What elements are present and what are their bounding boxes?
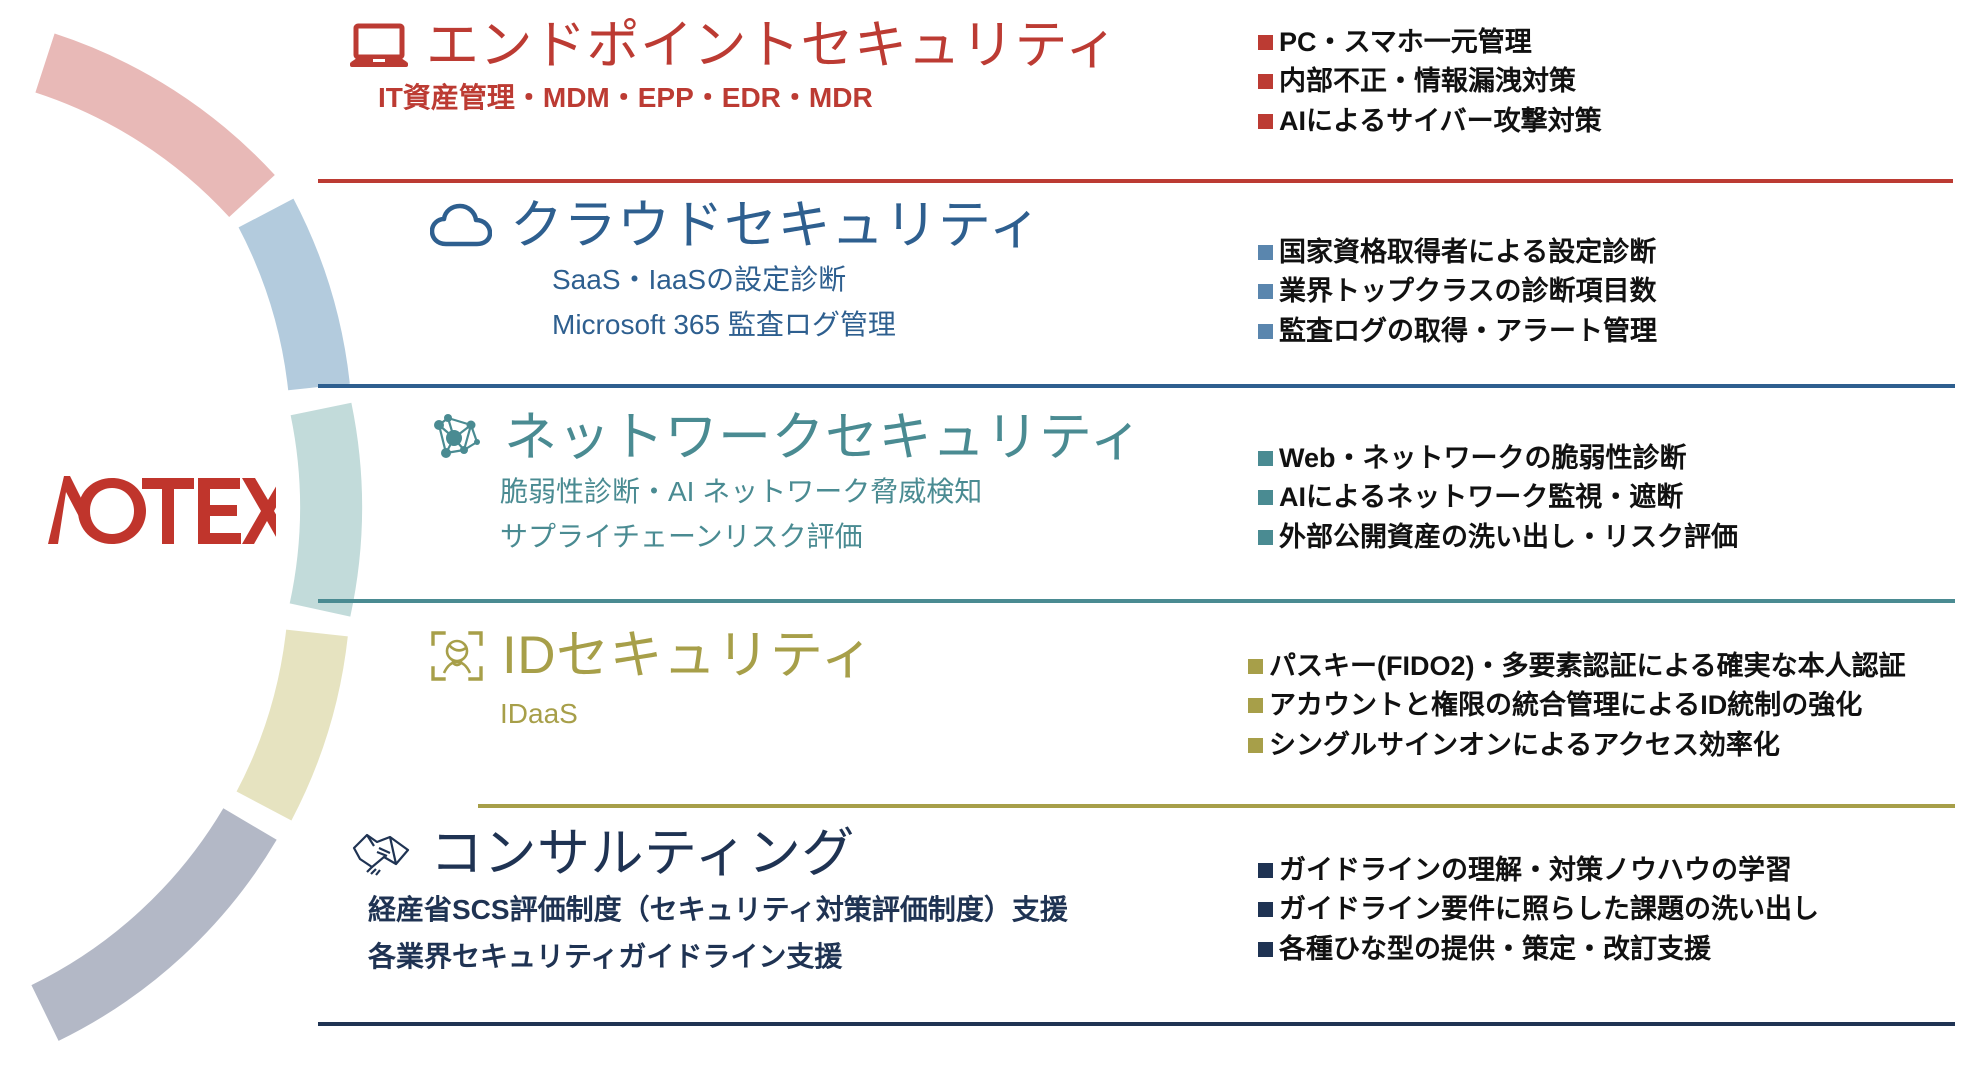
section-endpoint-security: エンドポイントセキュリティ IT資産管理・MDM・EPP・EDR・MDR PC・… [318,18,1958,158]
list-item: 外部公開資産の洗い出し・リスク評価 [1258,519,1738,556]
bullet-square-icon [1258,863,1273,878]
bullet-square-icon [1248,698,1263,713]
cloud-bullets: 国家資格取得者による設定診断 業界トップクラスの診断項目数 監査ログの取得・アラ… [1258,234,1657,350]
list-item: AIによるサイバー攻撃対策 [1258,103,1602,140]
consulting-title: コンサルティング [430,826,855,882]
bullet-text: 監査ログの取得・アラート管理 [1279,313,1657,350]
arc-segment-cloud [266,213,319,387]
consulting-bullets: ガイドラインの理解・対策ノウハウの学習 ガイドライン要件に照らした課題の洗い出し… [1258,852,1819,968]
laptop-icon [350,23,408,69]
bullet-text: Web・ネットワークの脆弱性診断 [1279,440,1687,477]
bullet-square-icon [1258,530,1273,545]
list-item: 監査ログの取得・アラート管理 [1258,313,1657,350]
section-consulting: コンサルティング 経産省SCS評価制度（セキュリティ対策評価制度）支援 各業界セ… [318,826,1958,1006]
divider-consulting [318,1022,1955,1026]
cloud-subtitle-line1: SaaS・IaaSの設定診断 [552,262,846,299]
bullet-square-icon [1258,245,1273,260]
consulting-title-block: コンサルティング 経産省SCS評価制度（セキュリティ対策評価制度）支援 各業界セ… [350,826,1068,976]
bullet-text: 国家資格取得者による設定診断 [1279,234,1656,271]
bullet-text: ガイドラインの理解・対策ノウハウの学習 [1279,852,1792,889]
cloud-icon [430,203,492,249]
network-bullets: Web・ネットワークの脆弱性診断 AIによるネットワーク監視・遮断 外部公開資産… [1258,440,1738,556]
bullet-text: 各種ひな型の提供・策定・改訂支援 [1279,931,1711,968]
section-network-security: ネットワークセキュリティ 脆弱性診断・AI ネットワーク脅威検知 サプライチェー… [318,410,1958,590]
id-title-block: IDセキュリティ IDaaS [430,628,874,733]
list-item: シングルサインオンによるアクセス効率化 [1248,727,1906,764]
section-id-security: IDセキュリティ IDaaS パスキー(FIDO2)・多要素認証による確実な本人… [318,628,1958,798]
service-overview-slide: エンドポイントセキュリティ IT資産管理・MDM・EPP・EDR・MDR PC・… [0,0,1980,1080]
cloud-title-block: クラウドセキュリティ SaaS・IaaSの設定診断 Microsoft 365 … [430,198,1042,344]
arc-segment-id [264,633,317,806]
bullet-text: 外部公開資産の洗い出し・リスク評価 [1279,519,1738,556]
bullet-square-icon [1258,114,1273,129]
network-title-block: ネットワークセキュリティ 脆弱性診断・AI ネットワーク脅威検知 サプライチェー… [430,410,1143,556]
endpoint-title: エンドポイントセキュリティ [426,18,1118,74]
consulting-subtitle-line2: 各業界セキュリティガイドライン支援 [368,939,842,976]
network-title: ネットワークセキュリティ [504,410,1143,466]
cloud-title: クラウドセキュリティ [510,198,1042,254]
bullet-square-icon [1258,324,1273,339]
arc-segment-endpoint [45,63,252,196]
bullet-text: シングルサインオンによるアクセス効率化 [1269,727,1780,764]
handshake-icon [350,828,412,880]
bullet-text: 業界トップクラスの診断項目数 [1279,273,1656,310]
divider-endpoint [318,179,1953,183]
bullet-square-icon [1258,74,1273,89]
list-item: パスキー(FIDO2)・多要素認証による確実な本人認証 [1248,648,1906,685]
list-item: 各種ひな型の提供・策定・改訂支援 [1258,931,1819,968]
id-subtitle: IDaaS [500,696,578,733]
list-item: アカウントと権限の統合管理によるID統制の強化 [1248,687,1906,724]
list-item: ガイドライン要件に照らした課題の洗い出し [1258,891,1819,928]
bullet-text: ガイドライン要件に照らした課題の洗い出し [1279,891,1819,928]
bullet-text: アカウントと権限の統合管理によるID統制の強化 [1269,687,1862,724]
list-item: 国家資格取得者による設定診断 [1258,234,1657,271]
face-scan-icon [430,630,484,682]
list-item: 内部不正・情報漏洩対策 [1258,63,1602,100]
bullet-text: 内部不正・情報漏洩対策 [1279,63,1576,100]
consulting-subtitle-line1: 経産省SCS評価制度（セキュリティ対策評価制度）支援 [368,892,1068,929]
motex-logo [46,470,276,550]
bullet-square-icon [1258,451,1273,466]
id-bullets: パスキー(FIDO2)・多要素認証による確実な本人認証 アカウントと権限の統合管… [1248,648,1906,764]
list-item: PC・スマホ一元管理 [1258,24,1602,61]
endpoint-subtitle: IT資産管理・MDM・EPP・EDR・MDR [378,80,873,117]
divider-cloud [318,384,1955,388]
bullet-square-icon [1258,942,1273,957]
bullet-text: パスキー(FIDO2)・多要素認証による確実な本人認証 [1269,648,1906,685]
arc-segment-consulting [45,824,250,1013]
divider-id [478,804,1955,808]
endpoint-bullets: PC・スマホ一元管理 内部不正・情報漏洩対策 AIによるサイバー攻撃対策 [1258,24,1602,140]
bullet-text: AIによるネットワーク監視・遮断 [1279,479,1683,516]
bullet-square-icon [1258,284,1273,299]
id-title: IDセキュリティ [502,628,874,684]
list-item: AIによるネットワーク監視・遮断 [1258,479,1738,516]
bullet-square-icon [1258,902,1273,917]
bullet-square-icon [1248,659,1263,674]
list-item: 業界トップクラスの診断項目数 [1258,273,1657,310]
cloud-subtitle-line2: Microsoft 365 監査ログ管理 [552,307,896,344]
network-nodes-icon [430,412,486,464]
section-cloud-security: クラウドセキュリティ SaaS・IaaSの設定診断 Microsoft 365 … [318,198,1958,378]
bullet-square-icon [1258,35,1273,50]
bullet-square-icon [1248,738,1263,753]
bullet-text: PC・スマホ一元管理 [1279,24,1532,61]
network-subtitle-line1: 脆弱性診断・AI ネットワーク脅威検知 [500,474,982,511]
network-subtitle-line2: サプライチェーンリスク評価 [500,519,863,556]
endpoint-title-block: エンドポイントセキュリティ IT資産管理・MDM・EPP・EDR・MDR [350,18,1118,117]
bullet-text: AIによるサイバー攻撃対策 [1279,103,1602,140]
divider-network [318,599,1955,603]
list-item: Web・ネットワークの脆弱性診断 [1258,440,1738,477]
bullet-square-icon [1258,490,1273,505]
list-item: ガイドラインの理解・対策ノウハウの学習 [1258,852,1819,889]
